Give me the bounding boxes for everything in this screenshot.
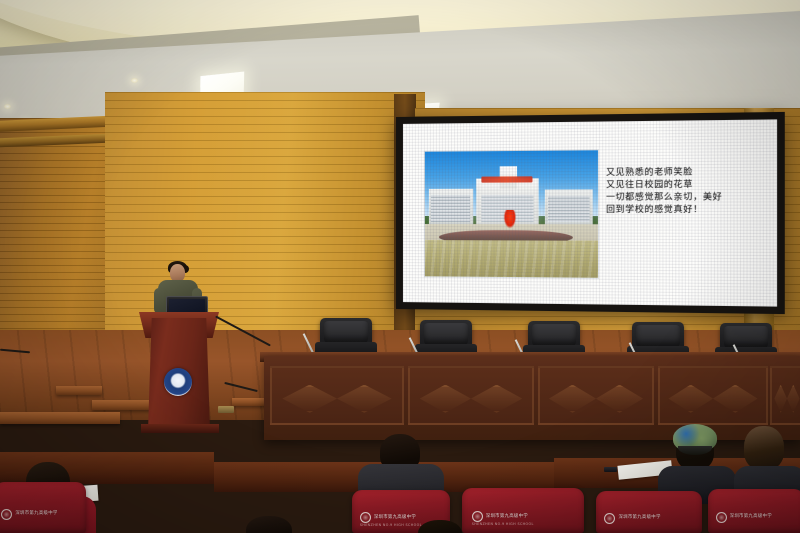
- seat-logo-text: 深圳市第九高级中学: [730, 514, 772, 521]
- photo-building-right-wing: [545, 190, 592, 226]
- person-head: [744, 426, 784, 470]
- seat-logo-text: 深圳市第九高级中学: [374, 515, 416, 522]
- seat-logo-subtext: SHENZHEN NO.9 HIGH SCHOOL: [472, 522, 534, 526]
- photo-lawn: [425, 240, 597, 278]
- recessed-downlight: [4, 104, 11, 109]
- smartphone-on-desk: [604, 467, 617, 472]
- table-panel-diamond: [420, 385, 522, 413]
- seat-seal-icon: [472, 511, 483, 522]
- seat-logo-text: 深圳市第九高级中学: [618, 515, 660, 522]
- slide-campus-photo: [424, 149, 598, 279]
- stage-step: [56, 386, 102, 395]
- slide-text-block: 又见熟悉的老师笑脸 又见往日校园的花草 一切都感觉那么亲切，美好 回到学校的感觉…: [606, 164, 759, 214]
- photo-building-sign: [481, 176, 533, 183]
- conference-hall-screenshot: 又见熟悉的老师笑脸 又见往日校园的花草 一切都感觉那么亲切，美好 回到学校的感觉…: [0, 0, 800, 533]
- led-display-screen: 又见熟悉的老师笑脸 又见往日校园的花草 一切都感觉那么亲切，美好 回到学校的感觉…: [396, 112, 785, 314]
- seat-logo: 深圳市第九高级中学: [472, 511, 574, 522]
- photo-red-sculpture: [504, 210, 516, 228]
- seat-seal-icon: [604, 513, 615, 524]
- audience-seat: 深圳市第九高级中学 SHENZHEN NO.9 HIGH SCHOOL: [462, 488, 584, 533]
- table-decor-panel: [538, 366, 654, 425]
- audience-seat: 深圳市第九高级中学: [708, 489, 800, 533]
- podium-base: [141, 424, 219, 433]
- audience-seat: 深圳市第九高级中学: [596, 491, 702, 533]
- table-decor-panel: [658, 366, 768, 425]
- slide-line-2: 又见往日校园的花草: [606, 177, 759, 190]
- slide-surface: 又见熟悉的老师笑脸 又见往日校园的花草 一切都感觉那么亲切，美好 回到学校的感觉…: [403, 119, 777, 306]
- stage-step: [92, 400, 154, 410]
- table-decor-panel: [770, 366, 800, 425]
- speaker-arm-left: [154, 288, 164, 314]
- table-panel-diamond: [668, 385, 757, 413]
- seat-logo: 深圳市第九高级中学: [604, 513, 693, 524]
- head-table: [264, 356, 800, 440]
- seat-seal-icon: [1, 509, 12, 520]
- slide-line-3: 一切都感觉那么亲切，美好: [606, 190, 759, 203]
- person-head: [246, 516, 292, 533]
- seat-logo-text: 深圳市第九高级中学: [486, 514, 528, 521]
- audience-seat: 深圳市第九高级中学: [0, 482, 86, 533]
- seat-logo: 深圳市第九高级中学: [716, 512, 797, 523]
- table-panel-diamond: [774, 385, 799, 413]
- slide-line-4: 回到学校的感觉真好！: [606, 202, 759, 215]
- person-head: [418, 520, 462, 533]
- seat-logo-text: 深圳市第九高级中学: [15, 511, 57, 518]
- seat-logo: 深圳市第九高级中学: [1, 509, 78, 520]
- seat-logo-subtext: SHENZHEN NO.9 HIGH SCHOOL: [360, 523, 422, 527]
- table-decor-panel: [270, 366, 404, 425]
- wall-panel-center: [105, 92, 425, 342]
- recessed-downlight: [131, 78, 138, 83]
- stage-step: [0, 412, 120, 424]
- seat-seal-icon: [716, 512, 727, 523]
- floor-power-brick: [218, 406, 234, 413]
- table-panel-diamond: [549, 385, 643, 413]
- table-decor-panel: [408, 366, 534, 425]
- wall-panel-left: [0, 118, 122, 333]
- school-seal-icon: [164, 368, 192, 396]
- table-panel-diamond: [282, 385, 391, 413]
- photo-building-left-wing: [429, 189, 473, 226]
- slide-line-1: 又见熟悉的老师笑脸: [606, 164, 759, 177]
